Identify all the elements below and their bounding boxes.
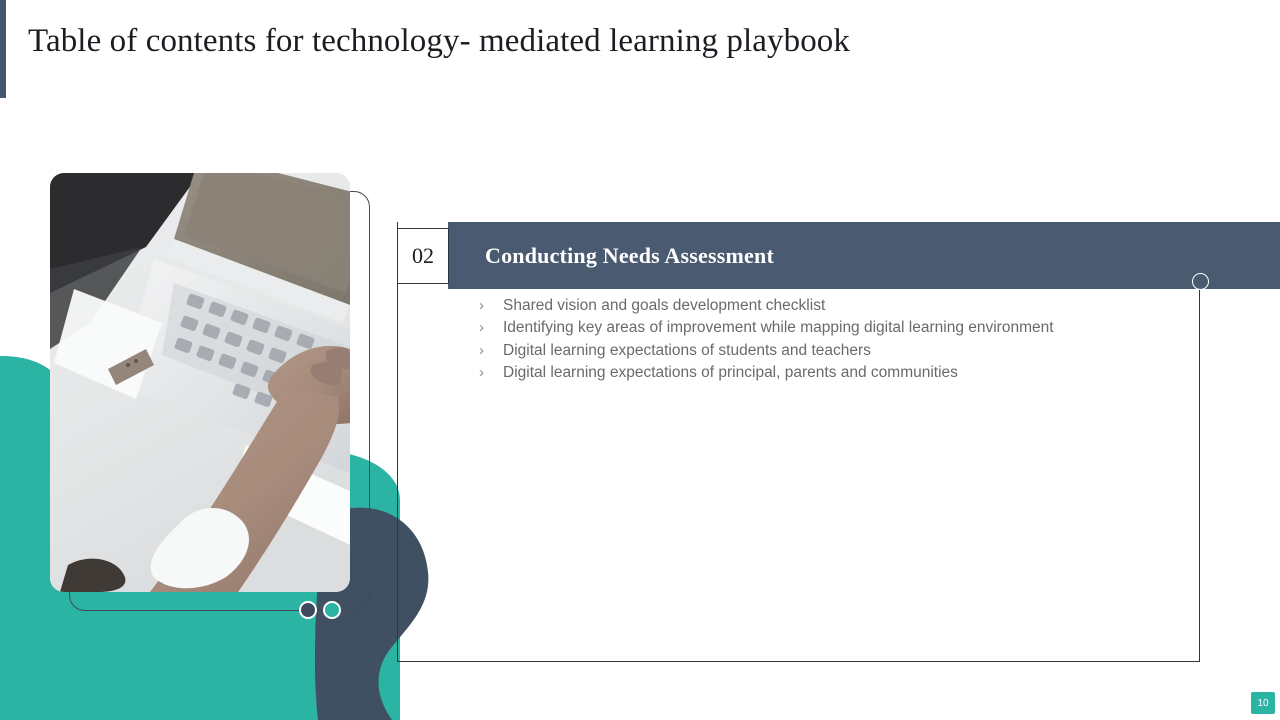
list-item-text: Shared vision and goals development chec…	[503, 295, 1179, 317]
list-item-text: Digital learning expectations of princip…	[503, 362, 1179, 384]
slide-root: Table of contents for technology- mediat…	[0, 0, 1280, 720]
page-number-badge: 10	[1251, 692, 1275, 714]
header-accent-bar	[0, 0, 6, 98]
laptop-photo	[50, 173, 350, 592]
banner-node-circle-icon	[1192, 273, 1209, 290]
chevron-right-icon: ›	[479, 295, 503, 317]
list-item: › Identifying key areas of improvement w…	[479, 317, 1179, 339]
section-title: Conducting Needs Assessment	[485, 243, 774, 269]
list-item-text: Identifying key areas of improvement whi…	[503, 317, 1179, 339]
bullet-list: › Shared vision and goals development ch…	[479, 295, 1179, 384]
chevron-right-icon: ›	[479, 317, 503, 339]
section-number: 02	[412, 243, 434, 269]
chevron-right-icon: ›	[479, 340, 503, 362]
list-item: › Digital learning expectations of princ…	[479, 362, 1179, 384]
chevron-right-icon: ›	[479, 362, 503, 384]
section-banner: Conducting Needs Assessment	[448, 222, 1280, 289]
carousel-dot-active[interactable]	[323, 601, 341, 619]
list-item: › Digital learning expectations of stude…	[479, 340, 1179, 362]
list-item-text: Digital learning expectations of student…	[503, 340, 1179, 362]
carousel-dot-inactive[interactable]	[299, 601, 317, 619]
laptop-photo-artwork	[50, 173, 350, 592]
section-number-box: 02	[397, 228, 449, 284]
page-title: Table of contents for technology- mediat…	[28, 23, 850, 60]
list-item: › Shared vision and goals development ch…	[479, 295, 1179, 317]
